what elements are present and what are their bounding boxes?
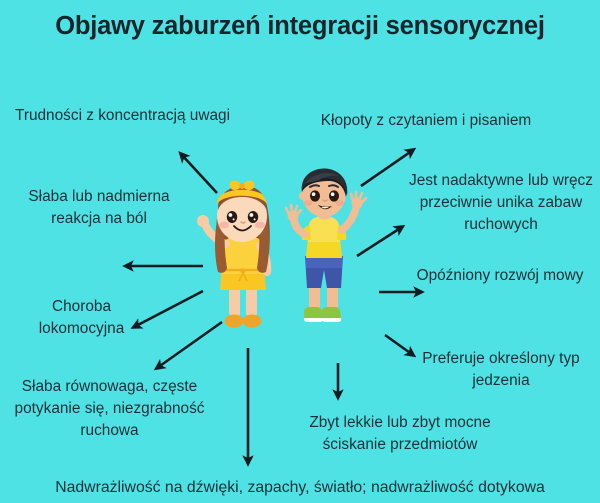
symptom-label-speech-delay: Opóźniony rozwój mowy xyxy=(414,265,586,287)
infographic-canvas: Objawy zaburzeń integracji sensorycznej … xyxy=(0,0,600,503)
symptom-label-balance: Słaba równowaga, częste potykanie się, n… xyxy=(2,376,217,442)
page-title: Objawy zaburzeń integracji sensorycznej xyxy=(0,12,600,41)
arrow-food-preference xyxy=(385,335,413,355)
girl-figure xyxy=(197,180,270,327)
boy-sneakers xyxy=(304,307,341,322)
girl-hair-bow xyxy=(230,180,255,190)
symptom-label-grip-force: Zbyt lekkie lub zbyt mocne ściskanie prz… xyxy=(285,412,515,456)
symptom-label-pain-reaction: Słaba lub nadmierna reakcja na ból xyxy=(4,186,194,230)
boy-left-hand xyxy=(286,205,301,221)
symptom-label-reading-writing: Kłopoty z czytaniem i pisaniem xyxy=(296,110,556,132)
symptom-label-hypersensitivity: Nadwrażliwość na dźwięki, zapachy, świat… xyxy=(0,477,600,499)
symptom-label-food-preference: Preferuje określony typ jedzenia xyxy=(412,348,590,392)
boy-right-hand xyxy=(351,192,366,209)
symptom-label-hyperactivity: Jest nadaktywne lub wręcz przeciwnie uni… xyxy=(408,170,594,236)
symptom-label-motion-sickness: Choroba lokomocyjna xyxy=(14,296,149,340)
symptom-label-concentration: Trudności z koncentracją uwagi xyxy=(10,105,235,127)
children-illustration xyxy=(196,168,382,350)
boy-figure xyxy=(286,169,366,322)
two-children-graphic xyxy=(196,168,382,350)
